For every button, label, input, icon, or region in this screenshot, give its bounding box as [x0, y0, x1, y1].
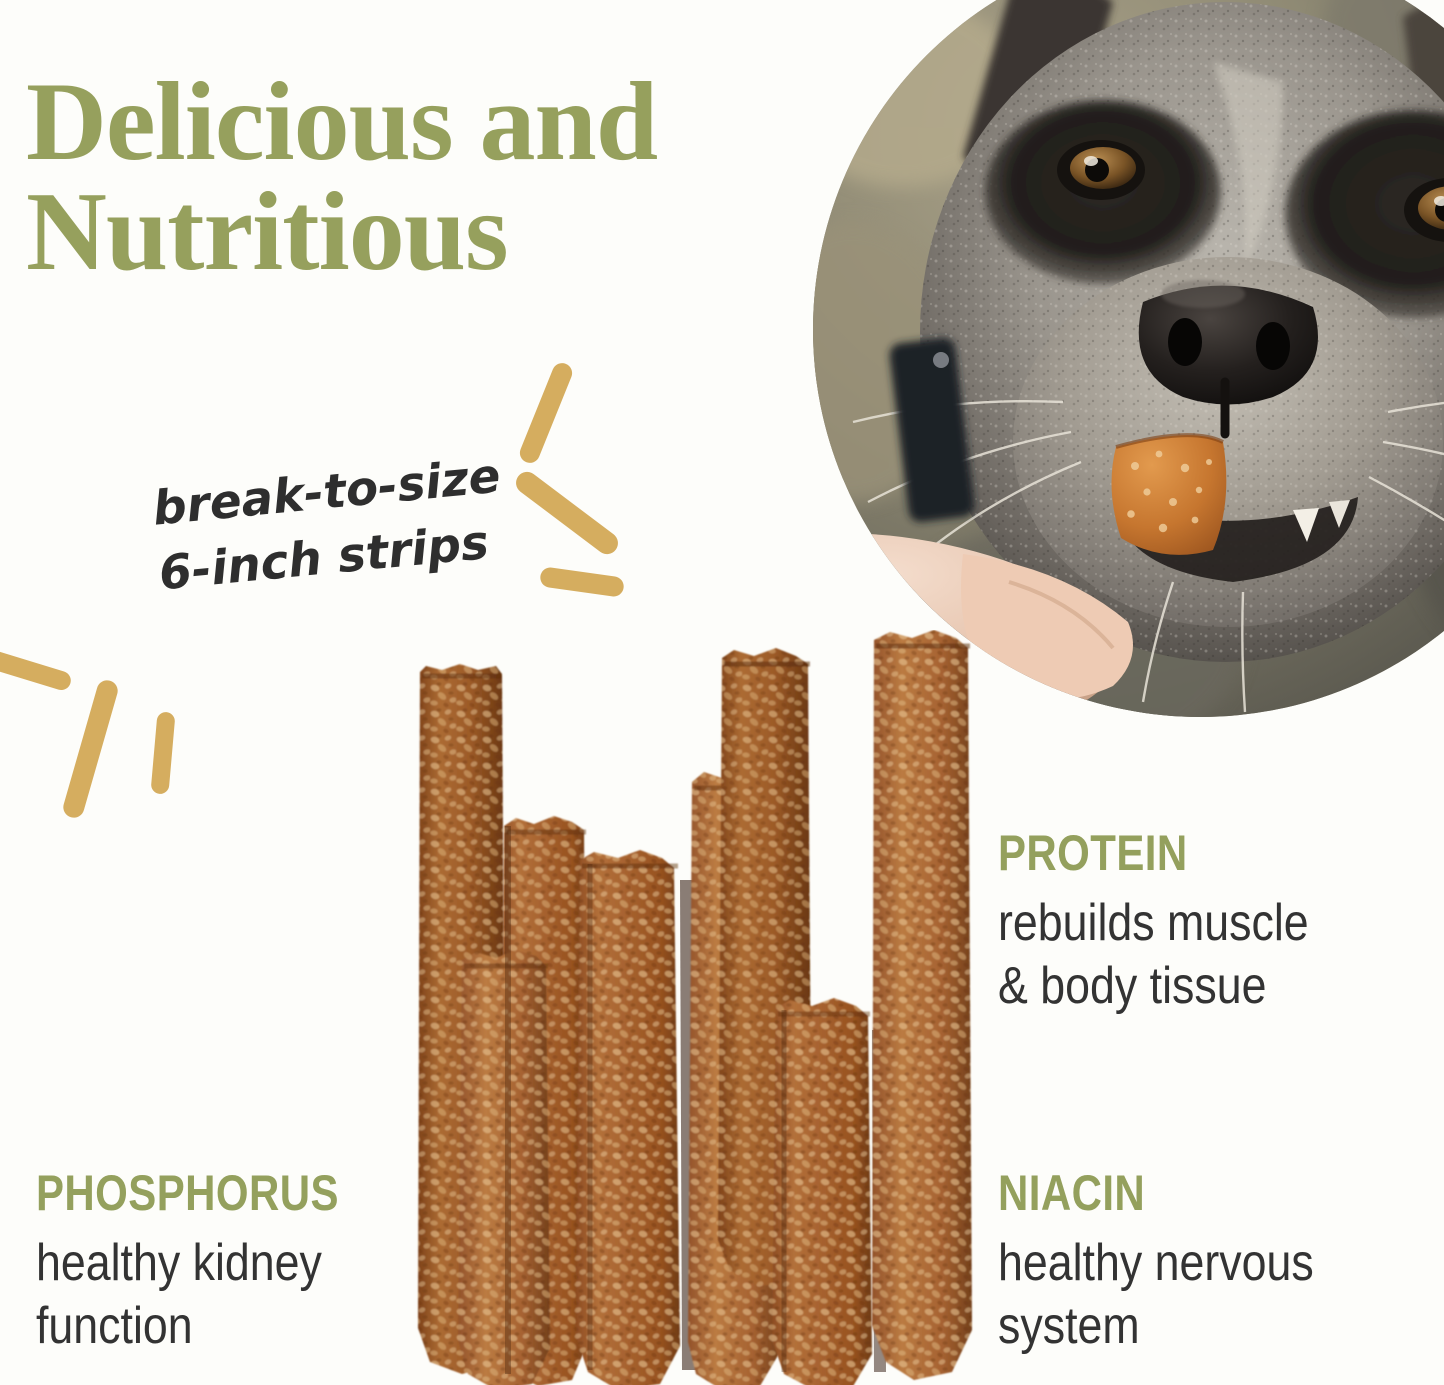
callout-phosphorus-title: PHOSPHORUS: [36, 1168, 372, 1218]
treat-strips-photo: [404, 630, 984, 1385]
callout-phosphorus-body: healthy kidney function: [36, 1232, 380, 1359]
callout-phosphorus: PHOSPHORUS healthy kidney function: [36, 1168, 436, 1359]
marketing-infographic: Delicious and Nutritious break-to-size 6…: [0, 0, 1444, 1385]
gold-stroke-icon-6: [150, 711, 175, 794]
gold-stroke-icon-4: [0, 646, 73, 693]
callout-niacin-body: healthy nervous system: [998, 1232, 1359, 1359]
callout-protein-body: rebuilds muscle & body tissue: [998, 892, 1394, 1019]
gold-stroke-icon-3: [539, 566, 625, 597]
page-title: Delicious and Nutritious: [26, 68, 846, 288]
handwritten-note: break-to-size 6-inch strips: [150, 438, 580, 607]
gold-stroke-icon-5: [61, 678, 120, 820]
callout-protein-title: PROTEIN: [998, 828, 1384, 878]
callout-niacin-title: NIACIN: [998, 1168, 1351, 1218]
dog-eating-treat-photo: [813, 0, 1444, 717]
callout-niacin: NIACIN healthy nervous system: [998, 1168, 1418, 1359]
callout-protein: PROTEIN rebuilds muscle & body tissue: [998, 828, 1444, 1019]
